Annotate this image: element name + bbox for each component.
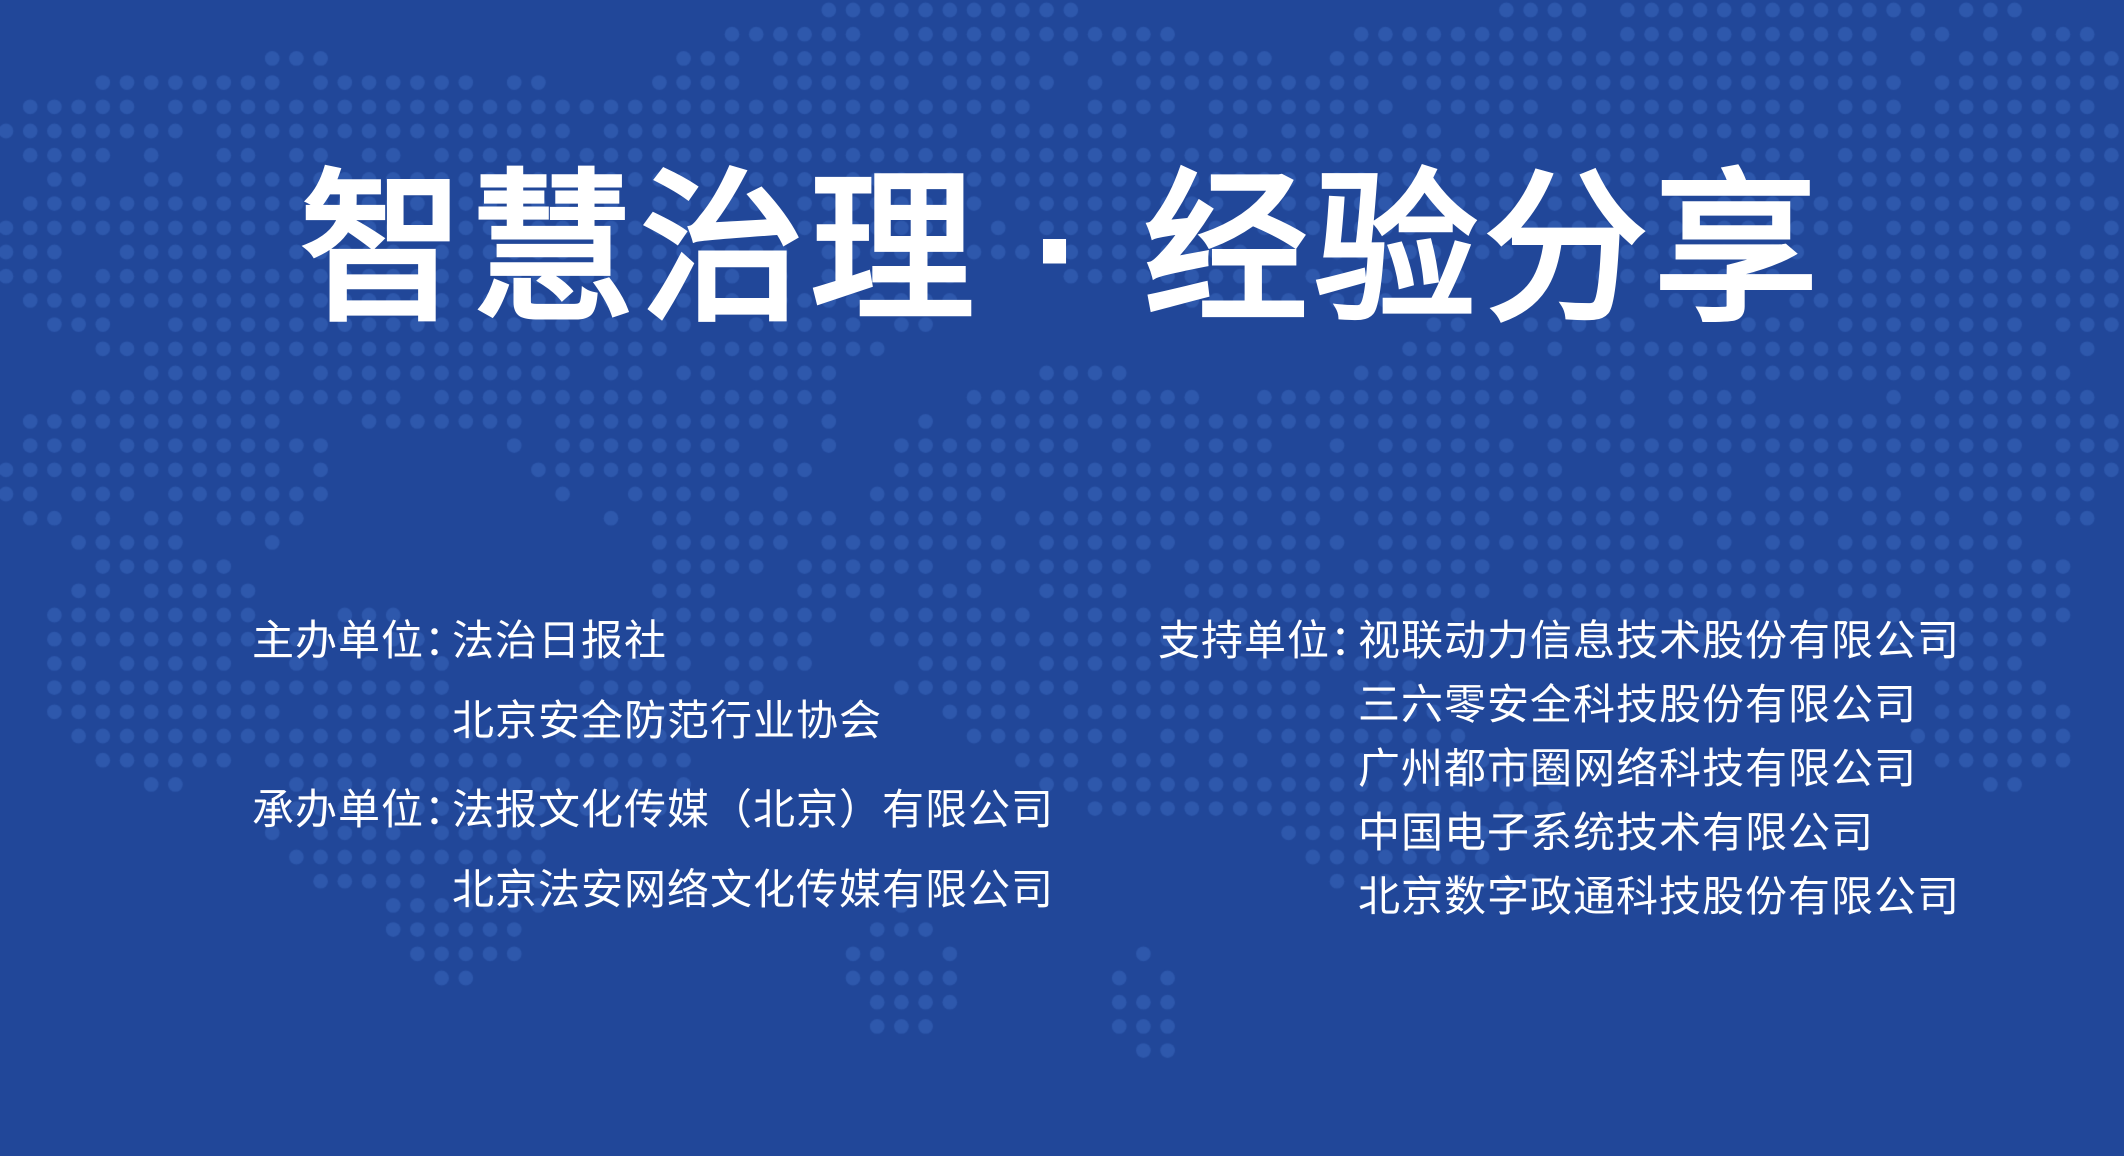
credit-value-supporter-4: 中国电子系统技术有限公司 [1358,812,1874,854]
credit-value-coorganizer-2: 北京法安网络文化传媒有限公司 [452,869,1054,911]
credit-line-supporter-4: 中国电子系统技术有限公司 [1158,812,1960,854]
credit-value-organizer-2: 北京安全防范行业协会 [452,700,882,742]
credit-value-supporter-5: 北京数字政通科技股份有限公司 [1358,876,1960,918]
credit-line-organizer-1: 主办单位： 法治日报社 [252,620,1054,662]
credit-line-supporter-2: 三六零安全科技股份有限公司 [1158,684,1960,726]
credit-label-organizer: 主办单位： [252,620,452,662]
credit-value-supporter-1: 视联动力信息技术股份有限公司 [1358,620,1960,662]
credit-line-coorganizer-2: 北京法安网络文化传媒有限公司 [252,869,1054,911]
credit-value-supporter-2: 三六零安全科技股份有限公司 [1358,684,1917,726]
credit-value-coorganizer-1: 法报文化传媒（北京）有限公司 [452,789,1054,831]
credit-value-organizer-1: 法治日报社 [452,620,667,662]
credits-block: 主办单位： 法治日报社 北京安全防范行业协会 承办单位： 法报文化传媒（北京）有… [0,620,2124,980]
credit-line-coorganizer-1: 承办单位： 法报文化传媒（北京）有限公司 [252,789,1054,831]
credits-left-column: 主办单位： 法治日报社 北京安全防范行业协会 承办单位： 法报文化传媒（北京）有… [252,620,1054,958]
credit-label-supporter: 支持单位： [1158,620,1358,662]
credit-line-organizer-2: 北京安全防范行业协会 [252,700,1054,742]
presentation-slide: 智慧治理 · 经验分享 主办单位： 法治日报社 北京安全防范行业协会 承办单位：… [0,0,2124,1156]
credit-line-supporter-1: 支持单位： 视联动力信息技术股份有限公司 [1158,620,1960,662]
slide-title: 智慧治理 · 经验分享 [0,168,2124,332]
credits-right-column: 支持单位： 视联动力信息技术股份有限公司 三六零安全科技股份有限公司 广州都市圈… [1158,620,1960,940]
credit-value-supporter-3: 广州都市圈网络科技有限公司 [1358,748,1917,790]
slide-title-text: 智慧治理 · 经验分享 [300,168,1824,332]
credit-label-coorganizer: 承办单位： [252,789,452,831]
credit-line-supporter-3: 广州都市圈网络科技有限公司 [1158,748,1960,790]
credit-line-supporter-5: 北京数字政通科技股份有限公司 [1158,876,1960,918]
